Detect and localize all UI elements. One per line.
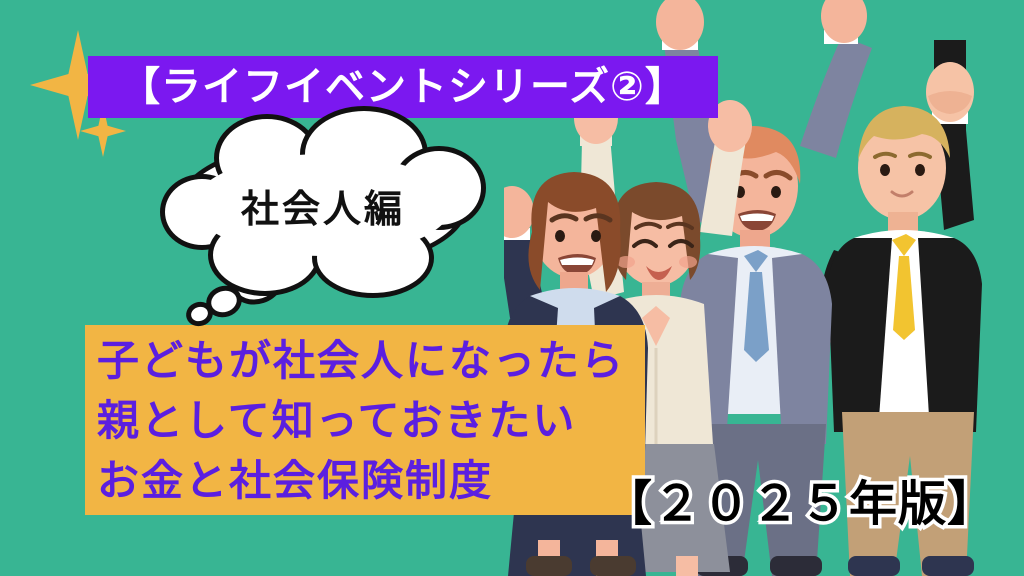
headline-line-3: お金と社会保険制度 (97, 451, 645, 511)
series-banner-label: 【ライフイベントシリーズ②】 (120, 67, 686, 107)
headline-block: 子どもが社会人になったら 親として知っておきたい お金と社会保険制度 (85, 325, 645, 515)
year-badge: 【２０２５年版】 (604, 478, 996, 531)
headline-line-1: 子どもが社会人になったら (97, 331, 645, 391)
thumbnail-canvas: 【ライフイベントシリーズ②】 社会人編 子どもが社会人になったら 親として知って… (0, 0, 1024, 576)
thought-bubble: 社会人編 (178, 140, 468, 270)
headline-line-2: 親として知っておきたい (97, 391, 645, 451)
thought-bubble-label: 社会人編 (178, 140, 468, 270)
series-banner: 【ライフイベントシリーズ②】 (88, 56, 718, 118)
